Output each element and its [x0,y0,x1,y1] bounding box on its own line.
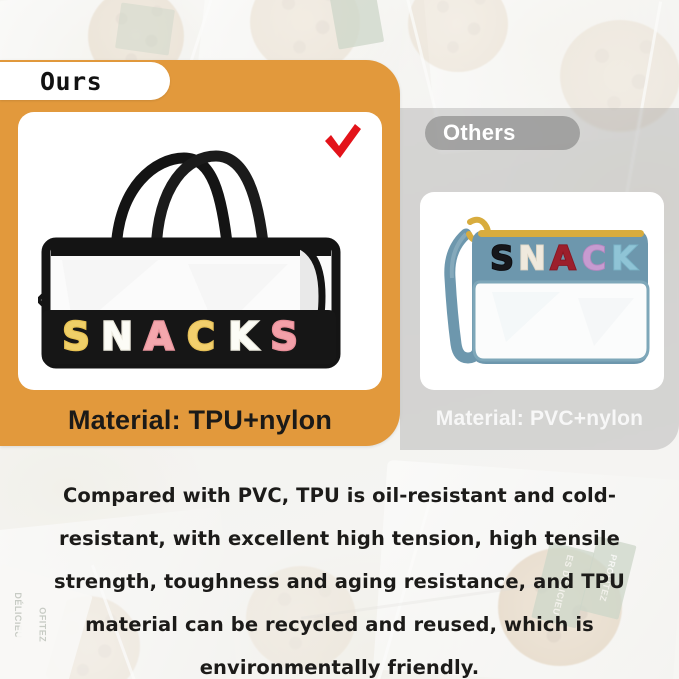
ours-material-caption: Material: TPU+nylon [0,394,400,446]
others-material-caption: Material: PVC+nylon [400,398,679,440]
svg-text:S: S [270,315,297,359]
svg-text:S: S [62,315,89,359]
description-paragraph: Compared with PVC, TPU is oil-resistant … [22,474,657,679]
svg-text:S: S [490,239,514,278]
others-product-card: S N A C K [420,192,664,390]
comparison-infographic: ES DÉLICIEU PROFITEZ DÉLICIEU OFITEZ Our… [0,0,679,679]
ours-tab[interactable]: Ours [0,62,170,100]
ours-product-card: S N A C K S [18,112,382,390]
ours-bag-illustration: S N A C K S [38,134,358,374]
svg-text:K: K [228,315,259,359]
others-pouch-illustration: S N A C K [428,200,656,382]
svg-text:N: N [518,239,546,278]
others-tab[interactable]: Others [425,116,580,150]
others-tab-label: Others [443,120,516,146]
svg-text:A: A [550,239,576,278]
svg-text:A: A [144,315,174,359]
svg-text:C: C [582,239,606,278]
svg-text:K: K [611,239,638,278]
svg-text:C: C [187,315,215,359]
ours-tab-label: Ours [40,67,102,96]
svg-text:N: N [101,315,133,359]
